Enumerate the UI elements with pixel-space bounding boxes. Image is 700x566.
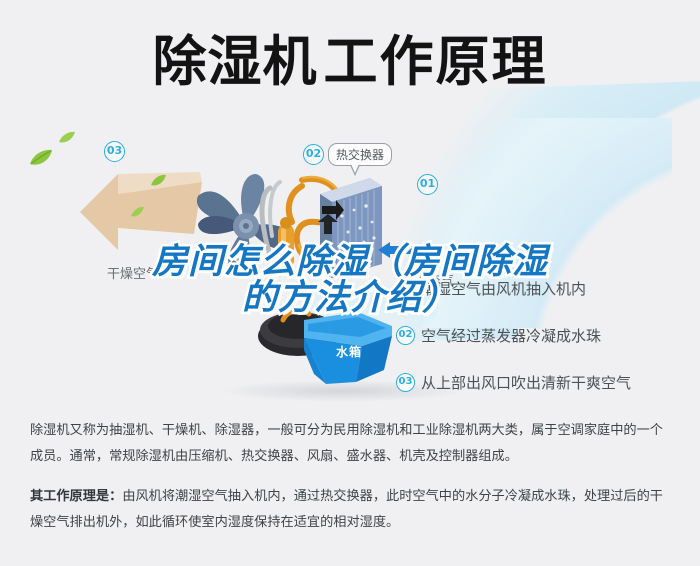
label-water-tank: 水箱 [336, 343, 362, 360]
leaf-icon [130, 206, 145, 219]
heat-exchanger-icon [312, 172, 386, 284]
process-step: 01 潮湿空气由风机抽入机内 [396, 278, 696, 299]
label-dry-air: 干燥空气 [107, 263, 159, 282]
page-title-part1: 除湿机 [153, 30, 318, 93]
process-step: 02 空气经过蒸发器冷凝成水珠 [396, 325, 696, 346]
step-text: 从上部出风口吹出清新干爽空气 [421, 372, 631, 393]
bubble-heat-exchanger: 热交换器 [328, 143, 392, 166]
badge-moist-air: 01 [417, 174, 438, 195]
paragraph-principle-text: 由风机将潮湿空气抽入机内，通过热交换器，此时空气中的水分子冷凝成水珠，处理过后的… [30, 489, 663, 530]
page-title-part2: 工作原理 [324, 30, 548, 93]
leaf-icon [28, 148, 54, 168]
step-text: 潮湿空气由风机抽入机内 [421, 278, 586, 299]
paragraph-principle: 其工作原理是：由风机将潮湿空气抽入机内，通过热交换器，此时空气中的水分子冷凝成水… [30, 484, 675, 536]
paragraph-intro: 除湿机又称为抽湿机、干燥机、除湿器，一般可分为民用除湿机和工业除湿机两大类，属于… [30, 418, 675, 470]
leaf-icon [150, 174, 167, 188]
process-step: 03 从上部出风口吹出清新干爽空气 [396, 372, 696, 393]
process-steps-list: 01 潮湿空气由风机抽入机内 02 空气经过蒸发器冷凝成水珠 03 从上部出风口… [396, 278, 696, 419]
step-text: 空气经过蒸发器冷凝成水珠 [421, 325, 601, 346]
step-badge: 01 [396, 279, 415, 298]
paragraph-principle-label: 其工作原理是： [30, 489, 122, 504]
badge-heat-exchanger: 02 [303, 144, 324, 165]
badge-dry-air: 03 [104, 141, 125, 162]
article-body: 除湿机又称为抽湿机、干燥机、除湿器，一般可分为民用除湿机和工业除湿机两大类，属于… [30, 418, 675, 550]
leaf-icon [58, 131, 76, 145]
dehumidifier-diagram: 03 干燥空气 01 潮湿空气 02 热交换器 [0, 128, 700, 410]
air-intake-arrow-icon [378, 240, 412, 260]
page-title: 除湿机工作原理 [153, 35, 548, 89]
page-root: 除湿机工作原理 03 干燥空气 01 潮湿空气 [0, 0, 700, 566]
step-badge: 03 [396, 373, 415, 392]
step-badge: 02 [396, 326, 415, 345]
